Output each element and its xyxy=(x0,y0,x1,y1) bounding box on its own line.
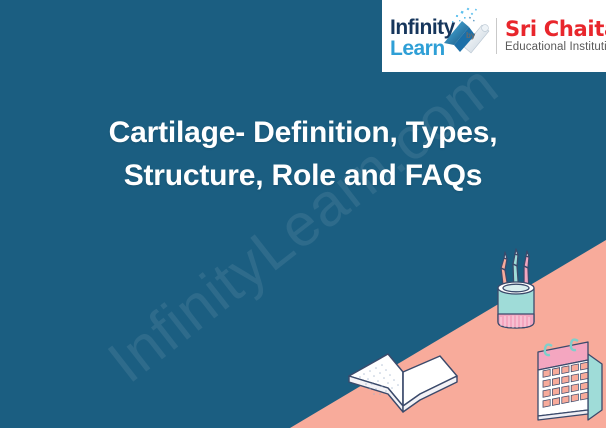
brand-logo-panel[interactable]: Infinity Learn xyxy=(382,0,606,72)
page-title: Cartilage- Definition, Types, Structure,… xyxy=(0,112,606,197)
infinity-learn-logo[interactable]: Infinity Learn xyxy=(388,5,492,67)
open-book-icon xyxy=(344,332,464,428)
infinity-learn-wordmark-line2: Learn xyxy=(390,38,445,59)
sri-chaitanya-subtitle: Educational Institutions xyxy=(505,41,606,55)
pencil-cup-icon xyxy=(488,246,544,334)
sri-chaitanya-logo[interactable]: Sri Chaitanya Educational Institutions xyxy=(499,18,606,55)
thumbnail-card: InfinityLearn.com xyxy=(0,0,606,428)
calendar-icon xyxy=(532,332,606,428)
logo-connector-by: by xyxy=(466,31,475,40)
logo-divider xyxy=(496,18,497,54)
sri-chaitanya-title: Sri Chaitanya xyxy=(505,18,606,40)
